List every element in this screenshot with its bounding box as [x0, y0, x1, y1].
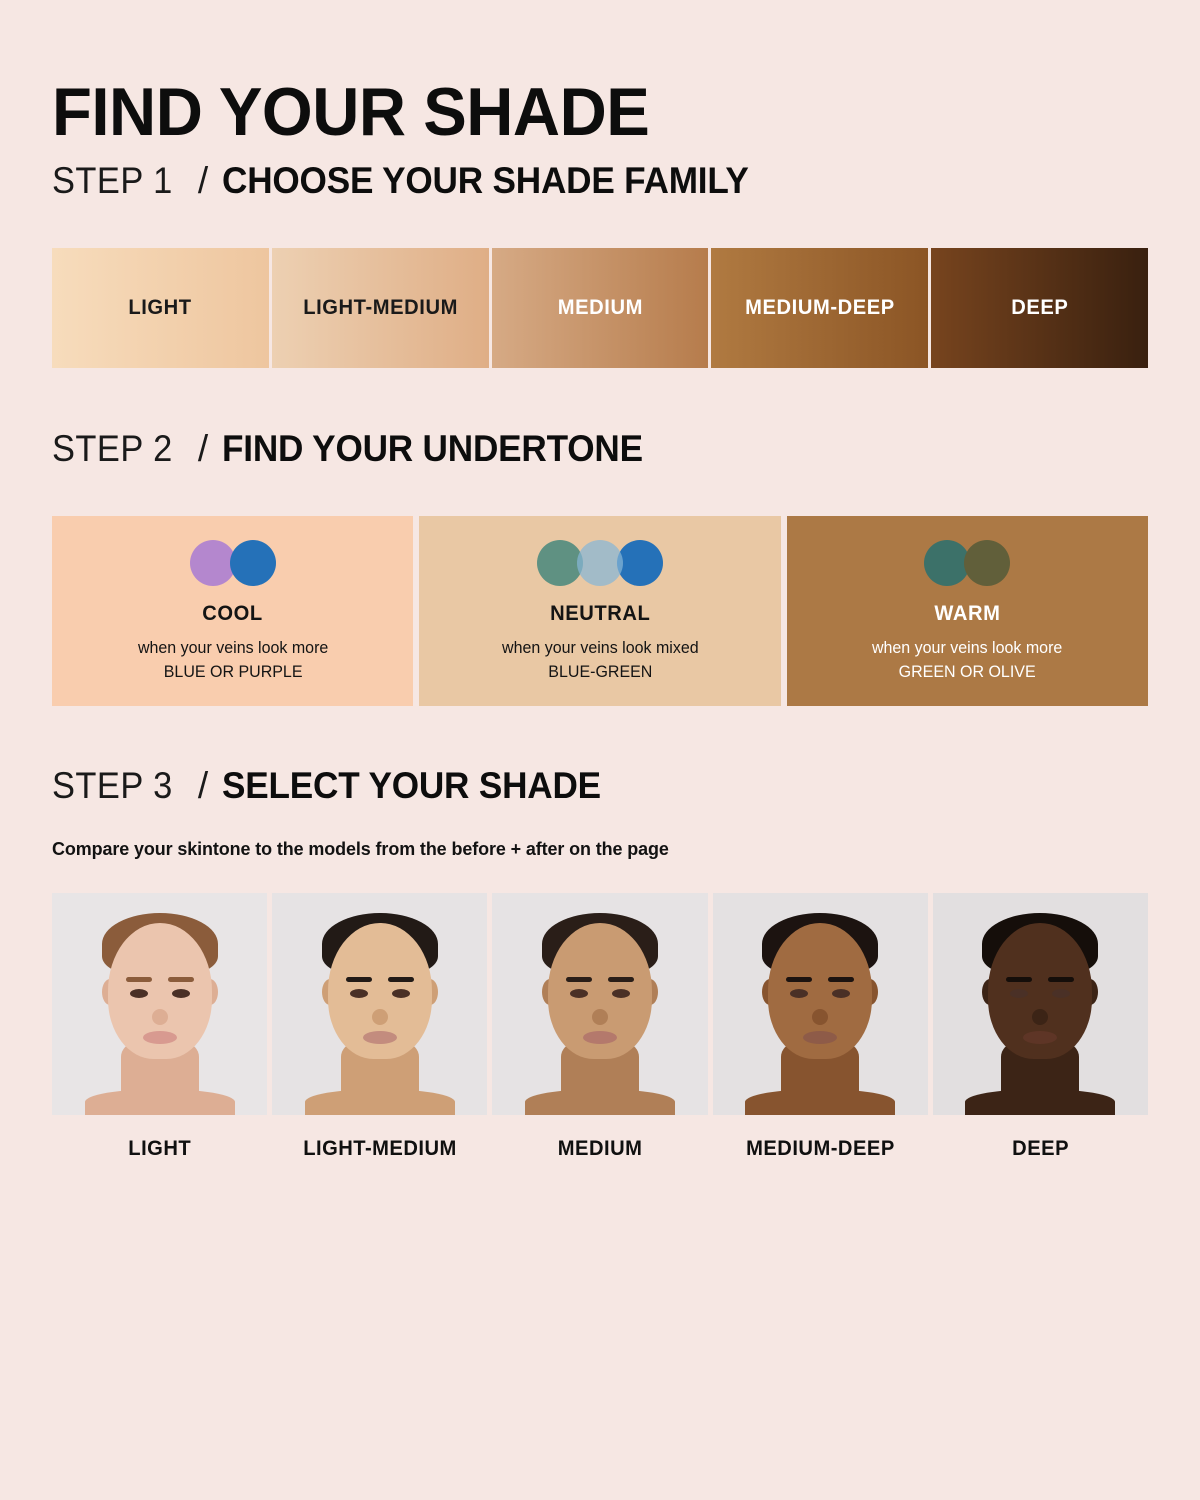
- find-your-shade-page: FIND YOUR SHADE STEP 1 / CHOOSE YOUR SHA…: [0, 0, 1200, 1500]
- model-nose: [152, 1009, 168, 1025]
- model-eye-right: [612, 989, 630, 998]
- model-face-illustration: [754, 901, 886, 1115]
- undertone-name: WARM: [934, 602, 1000, 626]
- shade-swatch-medium[interactable]: MEDIUM: [492, 248, 709, 368]
- undertone-dot-icon: [577, 540, 623, 586]
- model-photo: [52, 893, 267, 1115]
- undertone-description-line2: BLUE-GREEN: [502, 661, 699, 685]
- model-brow-right: [388, 977, 414, 982]
- model-brow-left: [1006, 977, 1032, 982]
- undertone-name: COOL: [202, 602, 263, 626]
- model-face-illustration: [314, 901, 446, 1115]
- shade-swatch-medium-deep[interactable]: MEDIUM-DEEP: [711, 248, 928, 368]
- model-photo: [713, 893, 928, 1115]
- shade-swatch-label: MEDIUM-DEEP: [745, 296, 895, 320]
- step-1-label: STEP 1: [52, 160, 173, 202]
- step-2-heading: STEP 2 / FIND YOUR UNDERTONE: [52, 428, 665, 470]
- page-title: FIND YOUR SHADE: [52, 78, 649, 146]
- undertone-dot-icon: [964, 540, 1010, 586]
- model-lips: [143, 1031, 177, 1044]
- model-nose: [372, 1009, 388, 1025]
- model-brow-left: [786, 977, 812, 982]
- step-1-title: CHOOSE YOUR SHADE FAMILY: [222, 160, 749, 202]
- step-3-subtitle: Compare your skintone to the models from…: [52, 838, 669, 860]
- model-nose: [592, 1009, 608, 1025]
- step-2-separator: /: [198, 428, 208, 470]
- model-brow-left: [566, 977, 592, 982]
- step-2-title: FIND YOUR UNDERTONE: [222, 428, 643, 470]
- model-brow-left: [126, 977, 152, 982]
- model-eye-left: [790, 989, 808, 998]
- model-eye-right: [392, 989, 410, 998]
- model-nose: [812, 1009, 828, 1025]
- model-lips: [803, 1031, 837, 1044]
- shade-swatch-deep[interactable]: DEEP: [931, 248, 1148, 368]
- shade-swatch-label: MEDIUM: [557, 296, 642, 320]
- undertone-panel-row: COOLwhen your veins look moreBLUE OR PUR…: [52, 516, 1148, 706]
- model-nose: [1032, 1009, 1048, 1025]
- model-brow-right: [1048, 977, 1074, 982]
- undertone-description: when your veins look moreGREEN OR OLIVE: [872, 637, 1062, 685]
- undertone-dot-icon: [617, 540, 663, 586]
- undertone-description-line1: when your veins look mixed: [502, 639, 699, 657]
- model-lips: [583, 1031, 617, 1044]
- model-cell-light[interactable]: LIGHT: [52, 893, 267, 1161]
- model-face-illustration: [974, 901, 1106, 1115]
- model-eye-left: [1010, 989, 1028, 998]
- model-eye-right: [832, 989, 850, 998]
- model-face-illustration: [94, 901, 226, 1115]
- undertone-description-line2: BLUE OR PURPLE: [137, 661, 327, 685]
- model-label: DEEP: [1012, 1137, 1069, 1161]
- step-1-heading: STEP 1 / CHOOSE YOUR SHADE FAMILY: [52, 160, 777, 202]
- model-brow-right: [828, 977, 854, 982]
- model-label: MEDIUM: [558, 1137, 643, 1161]
- undertone-panel-warm[interactable]: WARMwhen your veins look moreGREEN OR OL…: [787, 516, 1148, 706]
- step-3-heading: STEP 3 / SELECT YOUR SHADE: [52, 765, 621, 807]
- undertone-circles-icon: [190, 538, 276, 588]
- model-photo: [933, 893, 1148, 1115]
- model-eye-left: [130, 989, 148, 998]
- model-eye-left: [350, 989, 368, 998]
- undertone-panel-neutral[interactable]: NEUTRALwhen your veins look mixedBLUE-GR…: [419, 516, 780, 706]
- model-photo-row: LIGHTLIGHT-MEDIUMMEDIUMMEDIUM-DEEPDEEP: [52, 893, 1148, 1161]
- model-eye-right: [1052, 989, 1070, 998]
- shade-swatch-label: LIGHT: [129, 296, 192, 320]
- step-3-separator: /: [198, 765, 208, 807]
- undertone-circles-icon: [537, 538, 663, 588]
- model-eye-right: [172, 989, 190, 998]
- undertone-description-line1: when your veins look more: [872, 639, 1062, 657]
- shade-swatch-label: DEEP: [1011, 296, 1068, 320]
- model-eye-left: [570, 989, 588, 998]
- model-cell-light-medium[interactable]: LIGHT-MEDIUM: [272, 893, 487, 1161]
- shade-swatch-light[interactable]: LIGHT: [52, 248, 269, 368]
- model-brow-right: [168, 977, 194, 982]
- undertone-description-line1: when your veins look more: [137, 639, 327, 657]
- shade-swatch-label: LIGHT-MEDIUM: [303, 296, 458, 320]
- step-1-separator: /: [198, 160, 208, 202]
- model-photo: [272, 893, 487, 1115]
- model-cell-medium[interactable]: MEDIUM: [492, 893, 707, 1161]
- model-label: LIGHT: [128, 1137, 191, 1161]
- model-label: MEDIUM-DEEP: [746, 1137, 895, 1161]
- model-label: LIGHT-MEDIUM: [303, 1137, 457, 1161]
- model-photo: [492, 893, 707, 1115]
- undertone-description-line2: GREEN OR OLIVE: [872, 661, 1062, 685]
- model-cell-deep[interactable]: DEEP: [933, 893, 1148, 1161]
- model-brow-left: [346, 977, 372, 982]
- undertone-description: when your veins look moreBLUE OR PURPLE: [137, 637, 327, 685]
- undertone-dot-icon: [230, 540, 276, 586]
- shade-swatch-light-medium[interactable]: LIGHT-MEDIUM: [272, 248, 489, 368]
- undertone-description: when your veins look mixedBLUE-GREEN: [502, 637, 699, 685]
- model-face-illustration: [534, 901, 666, 1115]
- undertone-dot-icon: [190, 540, 236, 586]
- model-cell-medium-deep[interactable]: MEDIUM-DEEP: [713, 893, 928, 1161]
- step-3-label: STEP 3: [52, 765, 173, 807]
- undertone-name: NEUTRAL: [550, 602, 650, 626]
- model-lips: [1023, 1031, 1057, 1044]
- step-3-title: SELECT YOUR SHADE: [222, 765, 601, 807]
- step-2-label: STEP 2: [52, 428, 173, 470]
- model-brow-right: [608, 977, 634, 982]
- undertone-panel-cool[interactable]: COOLwhen your veins look moreBLUE OR PUR…: [52, 516, 413, 706]
- undertone-circles-icon: [924, 538, 1010, 588]
- shade-family-bar: LIGHTLIGHT-MEDIUMMEDIUMMEDIUM-DEEPDEEP: [52, 248, 1148, 368]
- model-lips: [363, 1031, 397, 1044]
